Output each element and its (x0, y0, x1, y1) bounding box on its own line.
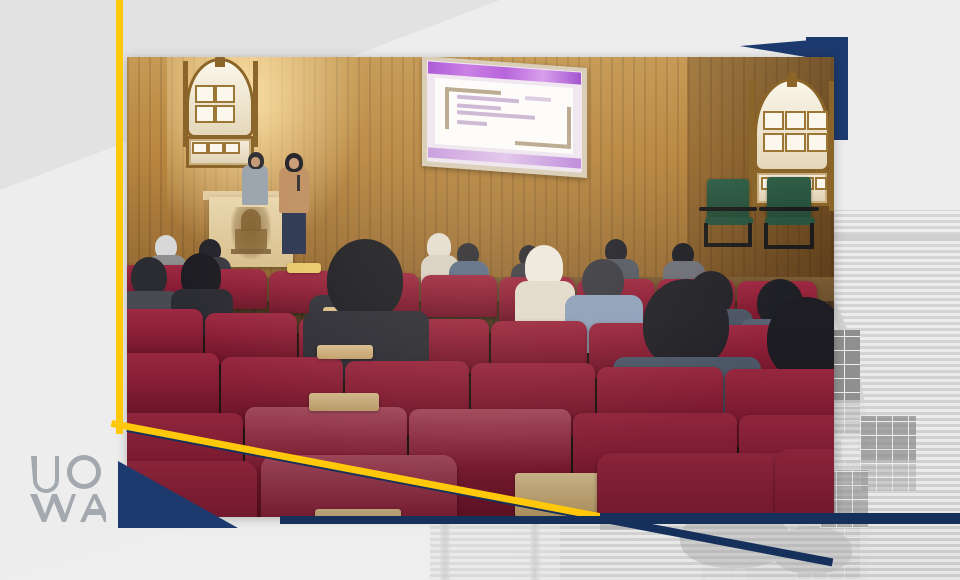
poster-canvas (0, 0, 960, 580)
yellow-vertical-accent (116, 0, 123, 434)
uowa-logo (28, 452, 106, 526)
navy-horizontal-rule (280, 516, 960, 524)
microphone (297, 175, 300, 191)
